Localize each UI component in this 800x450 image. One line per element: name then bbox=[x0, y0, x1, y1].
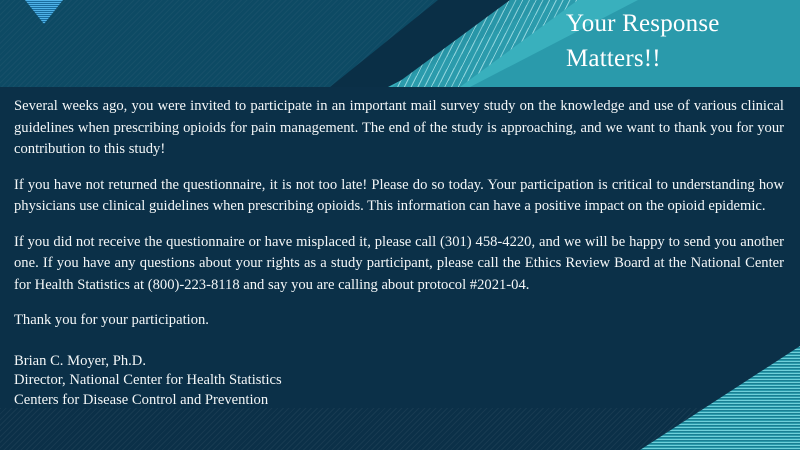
paragraph-intro: Several weeks ago, you were invited to p… bbox=[14, 96, 784, 161]
slide-header: Your Response Matters!! bbox=[0, 0, 800, 87]
page-title-line-2: Matters!! bbox=[566, 41, 796, 76]
page-title-line-1: Your Response bbox=[566, 6, 796, 41]
page-title: Your Response Matters!! bbox=[566, 6, 796, 76]
signature-title: Director, National Center for Health Sta… bbox=[14, 371, 784, 391]
signature-org: Centers for Disease Control and Preventi… bbox=[14, 391, 784, 411]
paragraph-contact: If you did not receive the questionnaire… bbox=[14, 232, 784, 297]
letter-body: Several weeks ago, you were invited to p… bbox=[0, 87, 800, 410]
signature-name: Brian C. Moyer, Ph.D. bbox=[14, 352, 784, 372]
paragraph-thanks: Thank you for your participation. bbox=[14, 310, 784, 332]
slide-body: Several weeks ago, you were invited to p… bbox=[0, 87, 800, 450]
slide-canvas: Your Response Matters!! Several weeks ag… bbox=[0, 0, 800, 450]
striped-triangle-down-icon bbox=[25, 0, 63, 24]
paragraph-reminder: If you have not returned the questionnai… bbox=[14, 175, 784, 218]
